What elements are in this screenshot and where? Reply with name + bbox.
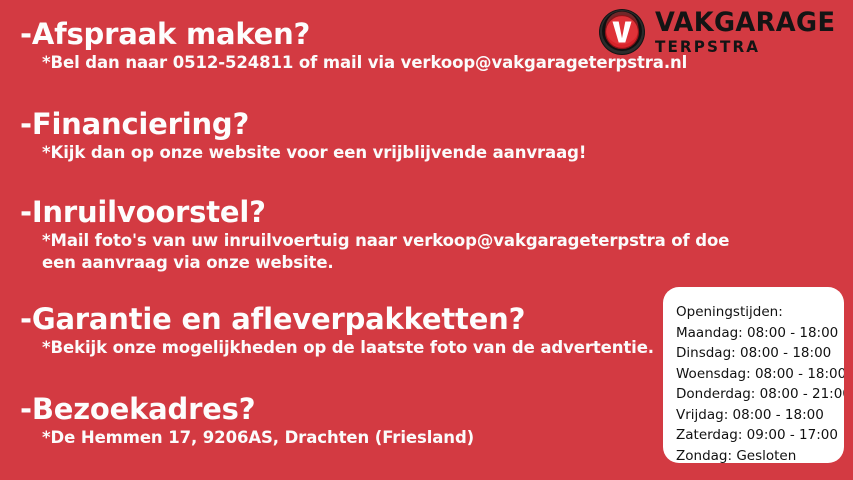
section-bezoekadres: -Bezoekadres? *De Hemmen 17, 9206AS, Dra… xyxy=(20,395,660,449)
section-lines: *De Hemmen 17, 9206AS, Drachten (Friesla… xyxy=(42,427,660,449)
section-afspraak: -Afspraak maken? *Bel dan naar 0512-5248… xyxy=(20,20,660,74)
opening-hours-row-wednesday: Woensdag: 08:00 - 18:00 xyxy=(676,364,844,385)
opening-hours-title: Openingstijden: xyxy=(676,302,844,323)
section-lines: *Kijk dan op onze website voor een vrijb… xyxy=(42,142,660,164)
section-line: *Mail foto's van uw inruilvoertuig naar … xyxy=(42,230,660,252)
logo-brand-name: VAKGARAGE xyxy=(655,9,835,36)
section-lines: *Bel dan naar 0512-524811 of mail via ve… xyxy=(42,52,660,74)
section-lines: *Mail foto's van uw inruilvoertuig naar … xyxy=(42,230,660,274)
opening-hours-row-thursday: Donderdag: 08:00 - 21:00 xyxy=(676,384,844,405)
section-garantie: -Garantie en afleverpakketten? *Bekijk o… xyxy=(20,305,660,359)
opening-hours-row-tuesday: Dinsdag: 08:00 - 18:00 xyxy=(676,343,844,364)
section-line: een aanvraag via onze website. xyxy=(42,252,660,274)
opening-hours-card: Openingstijden: Maandag: 08:00 - 18:00 D… xyxy=(663,287,844,463)
section-heading: -Bezoekadres? xyxy=(20,395,660,425)
opening-hours-row-sunday: Zondag: Gesloten xyxy=(676,446,844,464)
section-heading: -Inruilvoorstel? xyxy=(20,198,660,228)
section-line: *De Hemmen 17, 9206AS, Drachten (Friesla… xyxy=(42,427,660,449)
advertisement-poster: VAKGARAGE TERPSTRA -Afspraak maken? *Bel… xyxy=(0,0,853,480)
opening-hours-row-friday: Vrijdag: 08:00 - 18:00 xyxy=(676,405,844,426)
section-lines: *Bekijk onze mogelijkheden op de laatste… xyxy=(42,337,660,359)
section-heading: -Financiering? xyxy=(20,110,660,140)
section-line: *Bel dan naar 0512-524811 of mail via ve… xyxy=(42,52,660,74)
section-financiering: -Financiering? *Kijk dan op onze website… xyxy=(20,110,660,164)
section-line: *Kijk dan op onze website voor een vrijb… xyxy=(42,142,660,164)
logo-wordmark: VAKGARAGE TERPSTRA xyxy=(655,9,845,55)
opening-hours-row-saturday: Zaterdag: 09:00 - 17:00 xyxy=(676,425,844,446)
section-heading: -Garantie en afleverpakketten? xyxy=(20,305,660,335)
section-heading: -Afspraak maken? xyxy=(20,20,660,50)
section-line: *Bekijk onze mogelijkheden op de laatste… xyxy=(42,337,660,359)
section-inruilvoorstel: -Inruilvoorstel? *Mail foto's van uw inr… xyxy=(20,198,660,273)
opening-hours-row-monday: Maandag: 08:00 - 18:00 xyxy=(676,323,844,344)
